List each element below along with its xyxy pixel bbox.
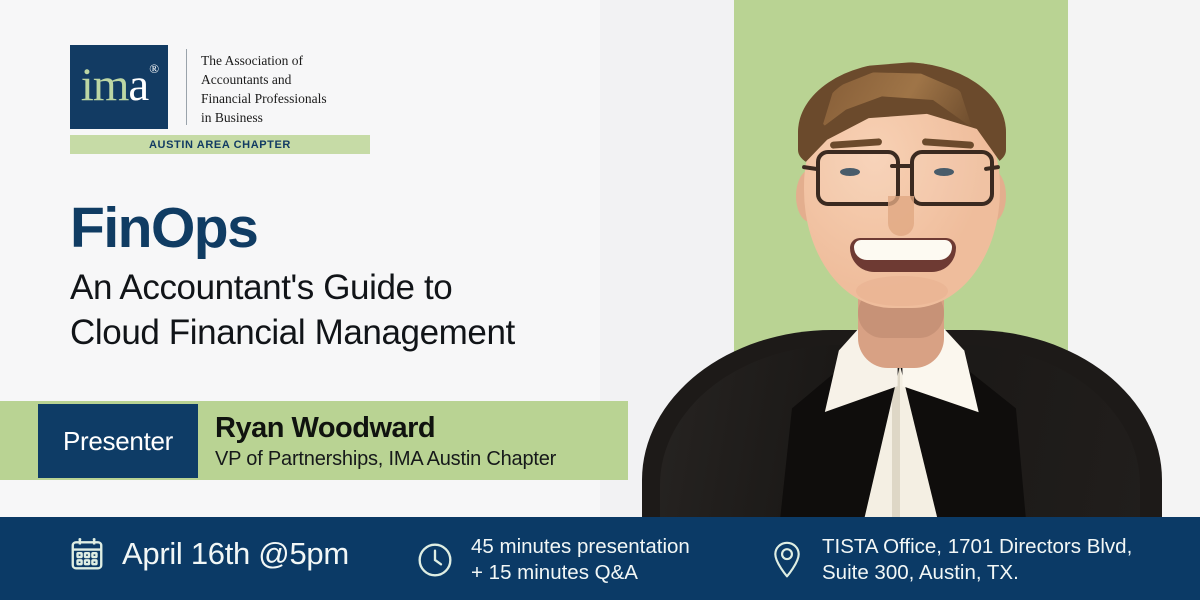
event-duration-text: 45 minutes presentation + 15 minutes Q&A — [471, 534, 690, 586]
presenter-photo — [600, 0, 1200, 517]
page-title: FinOps — [70, 200, 257, 257]
page-subtitle: An Accountant's Guide to Cloud Financial… — [70, 266, 515, 356]
event-flyer: ima® The Association of Accountants and … — [0, 0, 1200, 600]
event-date-text: April 16th @5pm — [122, 534, 349, 574]
nose — [888, 196, 914, 236]
ima-tagline: The Association of Accountants and Finan… — [187, 45, 327, 129]
event-detail-location: TISTA Office, 1701 Directors Blvd, Suite… — [768, 534, 1132, 586]
presenter-label-box: Presenter — [38, 404, 198, 478]
presenter-role: VP of Partnerships, IMA Austin Chapter — [215, 448, 556, 471]
clock-icon — [415, 540, 455, 580]
event-detail-date: April 16th @5pm — [68, 534, 349, 574]
presenter-label: Presenter — [63, 426, 173, 457]
logo-row: ima® The Association of Accountants and … — [70, 45, 380, 129]
calendar-icon — [68, 535, 106, 573]
event-detail-duration: 45 minutes presentation + 15 minutes Q&A — [415, 534, 690, 586]
chin — [856, 276, 948, 306]
ima-wordmark-white: a — [128, 59, 148, 111]
eyeglass-lens-right — [910, 150, 994, 206]
registered-trademark-icon: ® — [149, 61, 158, 76]
person-figure — [600, 0, 1200, 517]
chapter-banner: AUSTIN AREA CHAPTER — [70, 135, 370, 154]
ima-logo-lockup: ima® The Association of Accountants and … — [70, 45, 380, 154]
ima-wordmark-green: im — [81, 59, 129, 111]
map-pin-icon — [768, 540, 806, 580]
ima-wordmark: ima® — [81, 62, 157, 109]
event-location-text: TISTA Office, 1701 Directors Blvd, Suite… — [822, 534, 1132, 586]
teeth — [854, 240, 952, 260]
ima-logo-mark: ima® — [70, 45, 168, 129]
chapter-banner-label: AUSTIN AREA CHAPTER — [149, 139, 291, 151]
eyeglass-bridge — [890, 164, 912, 168]
presenter-name: Ryan Woodward — [215, 412, 435, 445]
